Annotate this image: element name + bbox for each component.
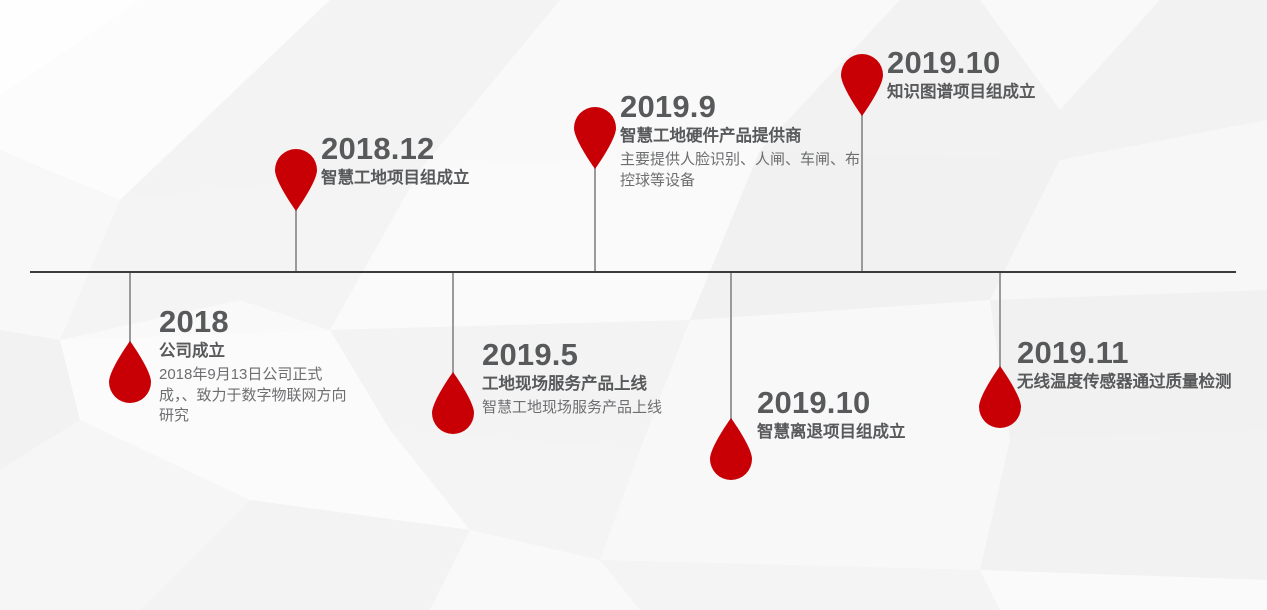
- timeline-stem: [129, 273, 131, 346]
- event-title: 智慧工地项目组成立: [321, 167, 581, 190]
- timeline-stem: [999, 273, 1001, 371]
- timeline-pin-marker[interactable]: [275, 149, 317, 211]
- event-year: 2019.5: [482, 338, 762, 371]
- event-description: 2018年9月13日公司正式成，、致力于数字物联网方向研究: [159, 365, 349, 427]
- event-year: 2019.10: [757, 386, 1007, 419]
- timeline-pin-marker[interactable]: [710, 418, 752, 480]
- event-year: 2018: [159, 305, 349, 338]
- timeline-event-4[interactable]: 2019.9智慧工地硬件产品提供商主要提供人脸识别、人闸、车闸、布控球等设备: [620, 90, 870, 191]
- event-title: 智慧工地硬件产品提供商: [620, 125, 870, 148]
- timeline-stem: [452, 273, 454, 377]
- timeline-event-5[interactable]: 2019.10智慧离退项目组成立: [757, 386, 1007, 445]
- event-year: 2018.12: [321, 132, 581, 165]
- timeline-infographic: 2018公司成立2018年9月13日公司正式成，、致力于数字物联网方向研究 20…: [0, 0, 1267, 610]
- timeline-pin-marker[interactable]: [432, 372, 474, 434]
- timeline-event-7[interactable]: 2019.11无线温度传感器通过质量检测: [1017, 336, 1267, 395]
- event-title: 知识图谱项目组成立: [887, 81, 1137, 104]
- timeline-event-6[interactable]: 2019.10知识图谱项目组成立: [887, 46, 1137, 105]
- event-description: 主要提供人脸识别、人闸、车闸、布控球等设备: [620, 150, 870, 191]
- event-year: 2019.9: [620, 90, 870, 123]
- event-year: 2019.10: [887, 46, 1137, 79]
- event-title: 智慧离退项目组成立: [757, 421, 1007, 444]
- event-description: 智慧工地现场服务产品上线: [482, 398, 762, 419]
- timeline-event-1[interactable]: 2018公司成立2018年9月13日公司正式成，、致力于数字物联网方向研究: [159, 305, 349, 427]
- event-title: 无线温度传感器通过质量检测: [1017, 371, 1267, 394]
- timeline-event-3[interactable]: 2019.5工地现场服务产品上线智慧工地现场服务产品上线: [482, 338, 762, 419]
- event-title: 公司成立: [159, 340, 349, 363]
- timeline-axis: [30, 271, 1236, 273]
- event-year: 2019.11: [1017, 336, 1267, 369]
- timeline-stem: [594, 158, 596, 272]
- event-title: 工地现场服务产品上线: [482, 373, 762, 396]
- timeline-pin-marker[interactable]: [109, 341, 151, 403]
- timeline-event-2[interactable]: 2018.12智慧工地项目组成立: [321, 132, 581, 191]
